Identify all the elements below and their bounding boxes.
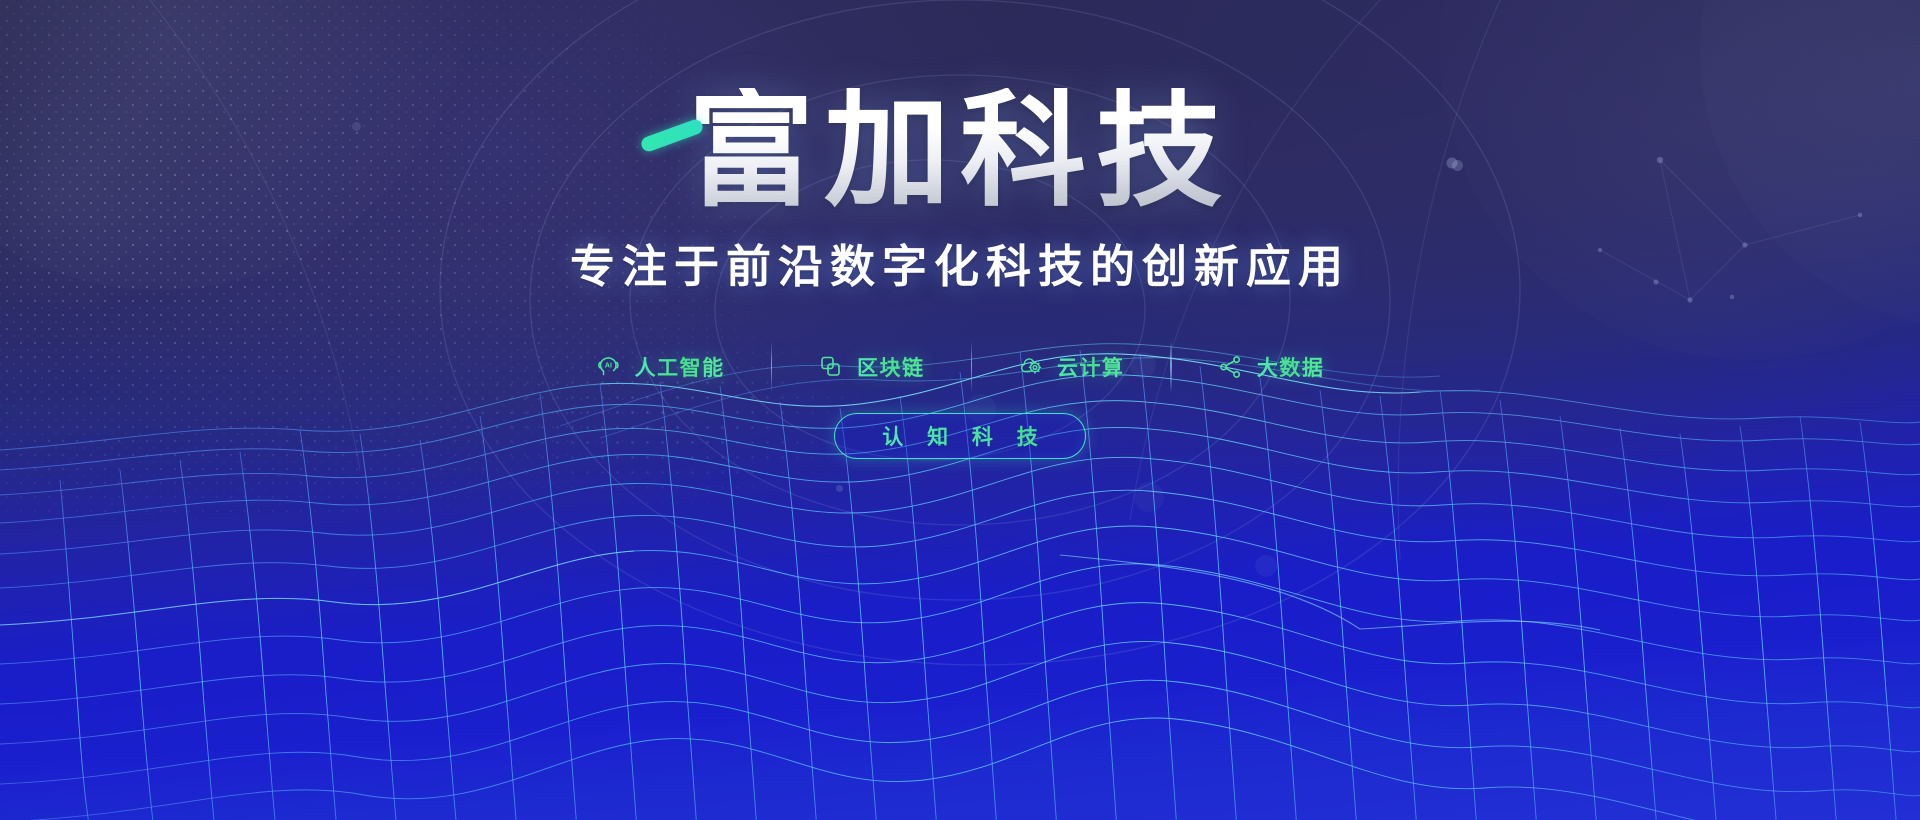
hero-content: 富加科技 专注于前沿数字化科技的创新应用 AI 人工智能 — [0, 0, 1920, 820]
hero-banner: 富加科技 专注于前沿数字化科技的创新应用 AI 人工智能 — [0, 0, 1920, 820]
cta-wrap: 认 知 科 技 — [0, 413, 1920, 459]
feature-item-ai[interactable]: AI 人工智能 — [550, 345, 771, 389]
share-nodes-icon — [1218, 354, 1244, 380]
brand-logo-wrap: 富加科技 — [0, 88, 1920, 214]
cta-label: 认 知 科 技 — [873, 421, 1047, 451]
blockchain-blocks-icon — [818, 354, 844, 380]
brand-logo: 富加科技 — [688, 88, 1232, 214]
feature-item-blockchain[interactable]: 区块链 — [772, 345, 971, 389]
cloud-gear-icon — [1018, 354, 1044, 380]
tagline-wrap: 专注于前沿数字化科技的创新应用 — [0, 237, 1920, 297]
feature-label: 区块链 — [857, 352, 925, 382]
feature-label: 大数据 — [1257, 352, 1325, 382]
ai-head-icon: AI — [596, 354, 622, 380]
feature-item-cloud[interactable]: 云计算 — [972, 345, 1171, 389]
cognitive-tech-button[interactable]: 认 知 科 技 — [834, 413, 1086, 459]
hero-tagline: 专注于前沿数字化科技的创新应用 — [570, 237, 1350, 297]
feature-item-bigdata[interactable]: 大数据 — [1172, 345, 1371, 389]
feature-label: 人工智能 — [635, 352, 725, 382]
feature-label: 云计算 — [1057, 352, 1125, 382]
svg-text:AI: AI — [604, 361, 611, 370]
feature-list: AI 人工智能 区块链 — [0, 341, 1920, 393]
